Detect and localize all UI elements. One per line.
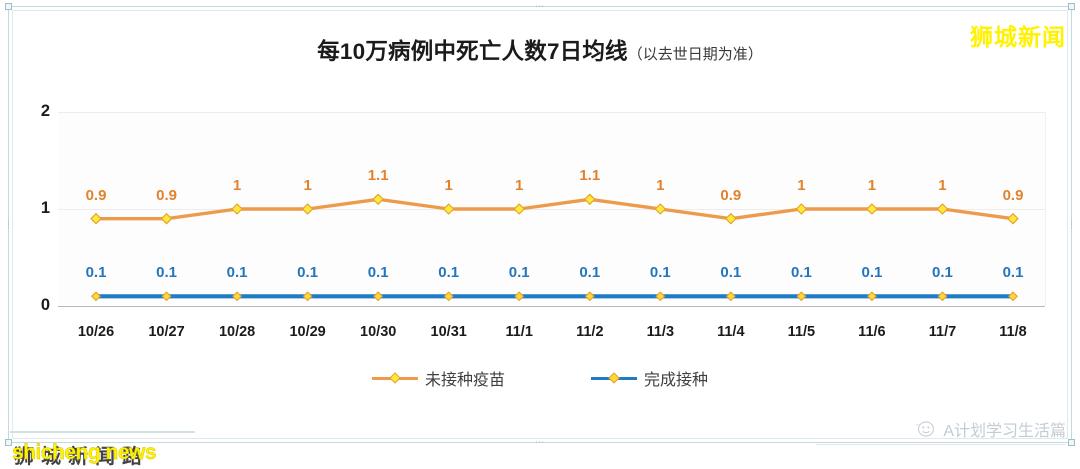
data-label: 1	[797, 177, 805, 194]
data-label: 0.9	[156, 187, 177, 204]
chart-title-main: 每10万病例中死亡人数7日均线	[317, 39, 628, 64]
data-point-marker[interactable]	[233, 292, 241, 300]
x-tick-label-10-30: 10/30	[360, 324, 396, 340]
data-label: 0.1	[86, 264, 107, 281]
x-tick-label-11-8: 11/8	[999, 324, 1026, 340]
legend-item-1[interactable]: 完成接种	[591, 366, 708, 390]
data-label: 0.9	[1003, 187, 1024, 204]
data-point-marker[interactable]	[303, 292, 311, 300]
data-point-marker[interactable]	[444, 292, 452, 300]
legend-label: 完成接种	[644, 366, 708, 390]
data-point-marker[interactable]	[444, 204, 454, 214]
smiley-face-icon	[915, 420, 937, 438]
data-label: 0.1	[720, 264, 741, 281]
data-point-marker[interactable]	[796, 204, 806, 214]
data-point-marker[interactable]	[868, 292, 876, 300]
chart-legend: 未接种疫苗完成接种	[0, 366, 1080, 390]
x-tick-label-10-28: 10/28	[219, 324, 255, 340]
data-point-marker[interactable]	[937, 204, 947, 214]
chart-title-subtitle: （以去世日期为准）	[628, 45, 763, 63]
gridline-0	[58, 306, 1045, 307]
y-tick-label-2: 2	[10, 102, 50, 121]
x-axis-tick-labels: 10/2610/2710/2810/2910/3010/3111/111/211…	[58, 324, 1046, 348]
data-point-marker[interactable]	[162, 214, 172, 224]
data-label: 0.1	[650, 264, 671, 281]
data-point-marker[interactable]	[585, 194, 595, 204]
x-tick-label-11-5: 11/5	[788, 324, 815, 340]
data-point-marker[interactable]	[726, 214, 736, 224]
data-point-marker[interactable]	[232, 204, 242, 214]
watermark-bottom-right-text: A计划学习生活篇	[943, 417, 1066, 441]
x-tick-label-11-7: 11/7	[929, 324, 956, 340]
data-point-marker[interactable]	[373, 194, 383, 204]
data-point-marker[interactable]	[727, 292, 735, 300]
x-tick-label-10-26: 10/26	[78, 324, 114, 340]
data-point-marker[interactable]	[91, 214, 101, 224]
data-point-marker[interactable]	[656, 292, 664, 300]
legend-marker-icon	[372, 372, 418, 384]
data-label: 1.1	[368, 167, 389, 184]
bottom-right-divider	[816, 444, 1066, 445]
data-point-marker[interactable]	[797, 292, 805, 300]
data-label: 1	[233, 177, 241, 194]
data-point-marker[interactable]	[162, 292, 170, 300]
chart-series-layer	[58, 112, 1046, 306]
data-point-marker[interactable]	[303, 204, 313, 214]
data-point-marker[interactable]	[1009, 292, 1017, 300]
data-label: 0.1	[297, 264, 318, 281]
chart-card: 每10万病例中死亡人数7日均线（以去世日期为准） 012 0.90.9111.1…	[0, 0, 1080, 469]
legend-marker-icon	[591, 372, 637, 384]
data-label: 0.1	[1003, 264, 1024, 281]
legend-item-0[interactable]: 未接种疫苗	[372, 366, 505, 390]
x-tick-label-10-31: 10/31	[431, 324, 467, 340]
data-label: 0.1	[932, 264, 953, 281]
chart-title: 每10万病例中死亡人数7日均线（以去世日期为准）	[0, 34, 1080, 66]
data-label: 0.1	[861, 264, 882, 281]
x-tick-label-10-29: 10/29	[289, 324, 325, 340]
y-tick-label-1: 1	[10, 199, 50, 218]
legend-label: 未接种疫苗	[425, 366, 505, 390]
x-tick-label-11-6: 11/6	[858, 324, 885, 340]
data-label: 1.1	[579, 167, 600, 184]
x-tick-label-11-2: 11/2	[576, 324, 603, 340]
data-label: 1	[303, 177, 311, 194]
data-label: 1	[515, 177, 523, 194]
data-point-marker[interactable]	[515, 292, 523, 300]
data-label: 1	[656, 177, 664, 194]
x-tick-label-11-1: 11/1	[505, 324, 532, 340]
data-label: 0.1	[509, 264, 530, 281]
data-label: 0.1	[156, 264, 177, 281]
screenshot-root: ⋯ ⋯ ⋮ ⋮ 每10万病例中死亡人数7日均线（以去世日期为准） 012 0.9…	[0, 0, 1080, 469]
watermark-bottom-left-latin: shicheng news	[12, 441, 156, 465]
data-label: 0.1	[368, 264, 389, 281]
x-tick-label-10-27: 10/27	[148, 324, 184, 340]
data-label: 0.1	[579, 264, 600, 281]
data-label: 0.1	[227, 264, 248, 281]
watermark-top-right: 狮城新闻	[970, 18, 1066, 52]
data-point-marker[interactable]	[92, 292, 100, 300]
data-label: 1	[868, 177, 876, 194]
x-tick-label-11-3: 11/3	[647, 324, 674, 340]
x-tick-label-11-4: 11/4	[717, 324, 744, 340]
bottom-left-divider	[10, 431, 195, 433]
data-label: 1	[445, 177, 453, 194]
data-point-marker[interactable]	[867, 204, 877, 214]
data-label: 0.9	[86, 187, 107, 204]
data-point-marker[interactable]	[586, 292, 594, 300]
data-label: 0.1	[438, 264, 459, 281]
data-point-marker[interactable]	[514, 204, 524, 214]
watermark-bottom-right: A计划学习生活篇	[915, 417, 1066, 441]
data-point-marker[interactable]	[938, 292, 946, 300]
data-label: 0.1	[791, 264, 812, 281]
data-label: 1	[938, 177, 946, 194]
data-label: 0.9	[720, 187, 741, 204]
data-point-marker[interactable]	[1008, 214, 1018, 224]
data-point-marker[interactable]	[374, 292, 382, 300]
y-tick-label-0: 0	[10, 296, 50, 315]
plot-area	[58, 112, 1046, 306]
data-point-marker[interactable]	[655, 204, 665, 214]
